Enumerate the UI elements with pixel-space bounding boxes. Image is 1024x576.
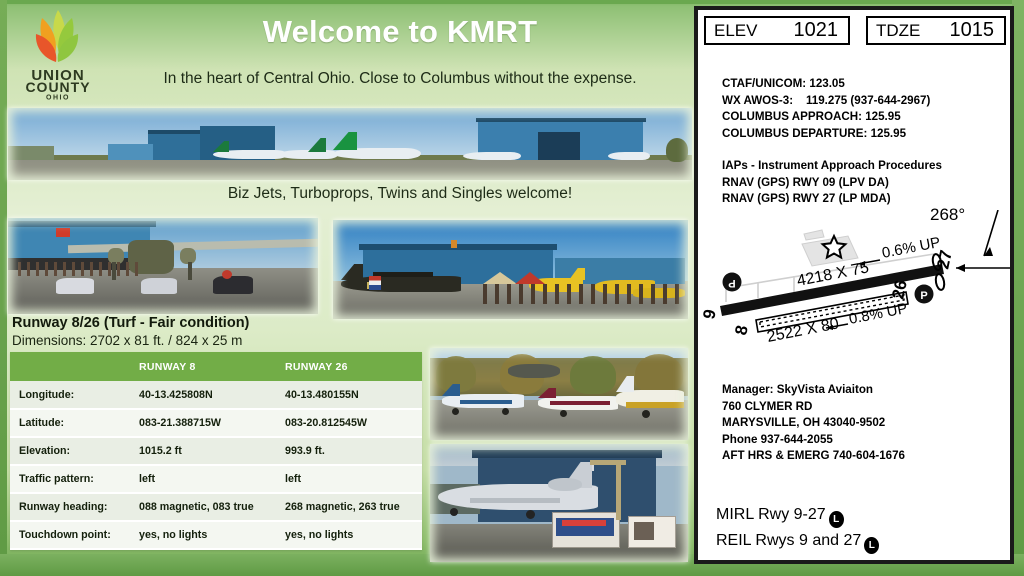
- photo-singles-lineup: [430, 348, 688, 440]
- lighting-mirl: MIRL Rwy 9-27L: [716, 502, 1006, 528]
- pilot-controlled-lighting-icon: L: [829, 511, 844, 528]
- runway-row-label: Runway heading:: [10, 493, 130, 521]
- runway-row-label: Touchdown point:: [10, 521, 130, 549]
- runway-end-9: 9: [699, 308, 720, 321]
- runway-row-label: Traffic pattern:: [10, 465, 130, 493]
- frequencies-block: CTAF/UNICOM: 123.05 WX AWOS-3: 119.275 (…: [722, 76, 1010, 208]
- elevation-box: ELEV 1021: [704, 16, 850, 45]
- table-header-row: RUNWAY 8 RUNWAY 26: [10, 352, 422, 381]
- welcome-tagline: Biz Jets, Turboprops, Twins and Singles …: [100, 185, 700, 203]
- runway-26-value: 268 magnetic, 263 true: [276, 493, 422, 521]
- lighting-block: MIRL Rwy 9-27L REIL Rwys 9 and 27L: [716, 502, 1006, 554]
- runway-dimensions: Dimensions: 2702 x 81 ft. / 824 x 25 m: [12, 333, 242, 348]
- freq-columbus-departure: COLUMBUS DEPARTURE: 125.95: [722, 126, 1010, 143]
- elevation-value: 1021: [794, 19, 839, 42]
- lighting-mirl-text: MIRL Rwy 9-27: [716, 506, 826, 523]
- manager-afthrs: AFT HRS & EMERG 740-604-1676: [722, 448, 1002, 465]
- lighting-reil: REIL Rwys 9 and 27L: [716, 528, 1006, 554]
- runway-row-label: Latitude:: [10, 409, 130, 437]
- runway-end-26: 26: [888, 278, 911, 300]
- photo-flyin-warbirds: [333, 220, 688, 319]
- table-row: Traffic pattern:leftleft: [10, 465, 422, 493]
- runway-8-value: left: [130, 465, 276, 493]
- manager-phone: Phone 937-644-2055: [722, 432, 1002, 449]
- runway-row-label: Elevation:: [10, 437, 130, 465]
- elevation-label: ELEV: [714, 21, 757, 41]
- tdze-label: TDZE: [876, 21, 920, 41]
- runway-8-value: 40-13.425808N: [130, 381, 276, 409]
- runway-8-value: 1015.2 ft: [130, 437, 276, 465]
- parking-marker-west: P: [723, 273, 742, 292]
- freq-wx-awos: WX AWOS-3: 119.275 (937-644-2967): [722, 93, 1010, 110]
- freq-ctaf-unicom: CTAF/UNICOM: 123.05: [722, 76, 1010, 93]
- runway-end-8: 8: [731, 324, 752, 337]
- airport-runway-diagram: 9 8 27 26 4218 X 75 0.6% UP 2522 X 80 0.…: [698, 210, 1010, 370]
- svg-text:P: P: [920, 290, 927, 302]
- logo-line2: COUNTY: [25, 79, 90, 95]
- page-subtitle: In the heart of Central Ohio. Close to C…: [100, 70, 700, 88]
- table-row: Longitude:40-13.425808N40-13.480155N: [10, 381, 422, 409]
- airport-info-panel: ELEV 1021 TDZE 1015 CTAF/UNICOM: 123.05 …: [694, 6, 1014, 564]
- svg-text:P: P: [728, 277, 735, 289]
- iap-heading: IAPs - Instrument Approach Procedures: [722, 158, 1010, 175]
- table-row: Latitude:083-21.388715W083-20.812545W: [10, 409, 422, 437]
- runway-8-value: 088 magnetic, 083 true: [130, 493, 276, 521]
- runway-8-value: yes, no lights: [130, 521, 276, 549]
- runway-end-27: 27: [933, 248, 956, 270]
- frame-top-band: [0, 0, 1024, 4]
- table-row: Runway heading:088 magnetic, 083 true268…: [10, 493, 422, 521]
- parking-marker-east: P: [915, 285, 934, 304]
- tdze-value: 1015: [950, 19, 995, 42]
- table-col-runway-8: RUNWAY 8: [130, 352, 276, 381]
- iap-rwy-27: RNAV (GPS) RWY 27 (LP MDA): [722, 191, 1010, 208]
- iap-rwy-09: RNAV (GPS) RWY 09 (LPV DA): [722, 175, 1010, 192]
- runway-26-value: 993.9 ft.: [276, 437, 422, 465]
- freq-columbus-approach: COLUMBUS APPROACH: 125.95: [722, 109, 1010, 126]
- lighting-reil-text: REIL Rwys 9 and 27: [716, 532, 861, 549]
- tdze-box: TDZE 1015: [866, 16, 1006, 45]
- manager-city: MARYSVILLE, OH 43040-9502: [722, 415, 1002, 432]
- pilot-controlled-lighting-icon: L: [864, 537, 879, 554]
- photo-business-jet: [430, 444, 688, 562]
- union-county-logo: UNION COUNTY OHIO grow with us.: [6, 4, 110, 104]
- runway-row-label: Longitude:: [10, 381, 130, 409]
- manager-block: Manager: SkyVista Aviaiton 760 CLYMER RD…: [722, 382, 1002, 465]
- logo-line3: OHIO: [46, 95, 70, 102]
- runway-bearing-label: 268°: [930, 205, 965, 225]
- runway-26-value: 40-13.480155N: [276, 381, 422, 409]
- page-title: Welcome to KMRT: [110, 14, 690, 50]
- runway-comparison-table: RUNWAY 8 RUNWAY 26 Longitude:40-13.42580…: [10, 352, 422, 550]
- table-row: Elevation:1015.2 ft993.9 ft.: [10, 437, 422, 465]
- runway-26-value: yes, no lights: [276, 521, 422, 549]
- table-col-blank: [10, 352, 130, 381]
- runway-table-caption: Runway 8/26 (Turf - Fair condition): [12, 315, 249, 331]
- photo-airport-ramp-panorama: [8, 108, 692, 180]
- photo-ford-trimotor: [8, 218, 318, 314]
- runway-26-value: left: [276, 465, 422, 493]
- manager-street: 760 CLYMER RD: [722, 399, 1002, 416]
- table-row: Touchdown point:yes, no lightsyes, no li…: [10, 521, 422, 549]
- runway-8-value: 083-21.388715W: [130, 409, 276, 437]
- manager-name: Manager: SkyVista Aviaiton: [722, 382, 1002, 399]
- runway-26-value: 083-20.812545W: [276, 409, 422, 437]
- table-col-runway-26: RUNWAY 26: [276, 352, 422, 381]
